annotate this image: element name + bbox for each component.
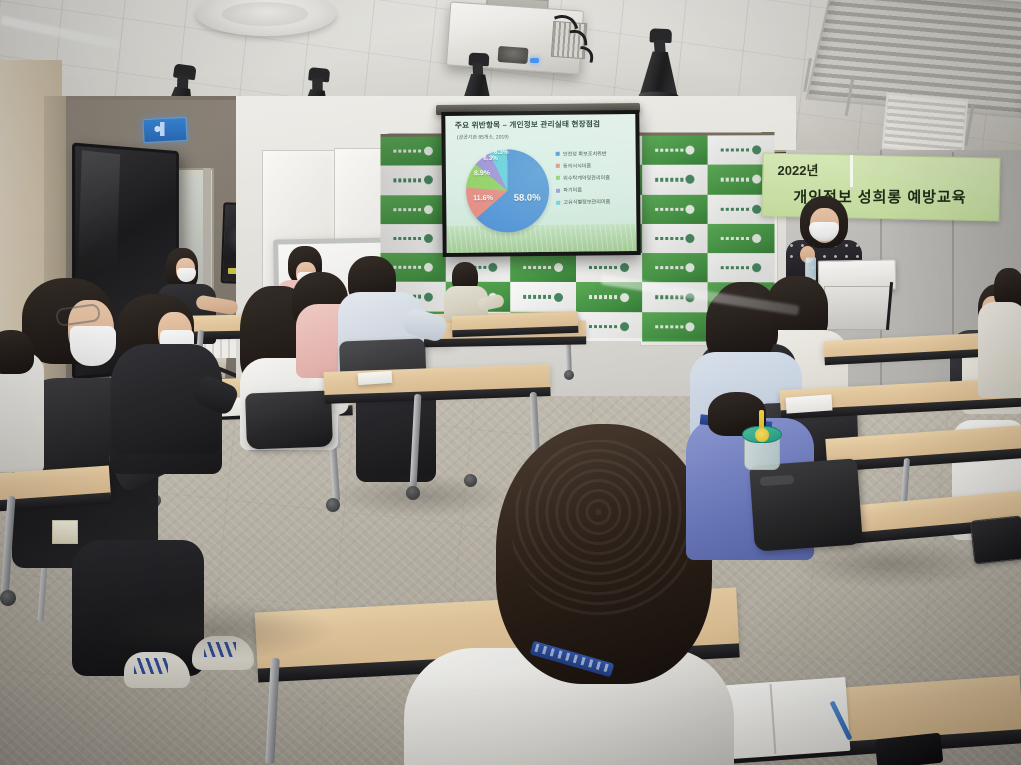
legend-label: 동의서식미흡	[563, 162, 591, 169]
open-notebook	[358, 371, 393, 385]
pie-slice-label: 6.3%	[494, 149, 509, 156]
training-desk	[452, 312, 578, 332]
stacking-chair[interactable]	[749, 458, 863, 551]
legend-swatch	[556, 164, 560, 168]
legend-swatch	[556, 188, 560, 192]
hair-texture	[512, 440, 692, 620]
exit-sign-glyph	[149, 122, 177, 136]
desk-caster	[0, 590, 16, 606]
legend-item: 파기미흡	[556, 186, 632, 194]
smartphone[interactable]	[875, 733, 944, 765]
legend-item: 동의서식미흡	[556, 162, 632, 170]
legend-label: 파기미흡	[563, 187, 582, 194]
legend-swatch	[556, 201, 560, 205]
projector-status-led	[530, 58, 539, 63]
tumbler-smiley-charm	[755, 428, 769, 442]
legend-label: 고유식별정보관리미흡	[563, 199, 610, 206]
smoke-detector-inner	[222, 2, 308, 26]
lecture-room-photo: 2022년 개인정보 성희롱 예방교육 주요 위반항목 – 개인정보 관리실태 …	[0, 0, 1021, 765]
pie-slice-label: 8.9%	[474, 170, 490, 177]
shoe-stripes	[134, 658, 168, 674]
legend-label: 안전성 확보조치위반	[563, 150, 607, 157]
legend-item: 고유식별정보관리미흡	[556, 198, 632, 206]
training-desk	[0, 466, 111, 505]
ceiling-vent-small	[882, 93, 969, 156]
pie-slice-label: 58.0%	[514, 193, 541, 204]
slide-title: 주요 위반항목 – 개인정보 관리실태 현장점검	[455, 118, 630, 131]
projection-screen: 주요 위반항목 – 개인정보 관리실태 현장점검 (공공기관 85개소, 201…	[441, 110, 641, 257]
projector-cables	[430, 10, 510, 80]
banner-title: 개인정보 성희롱 예방교육	[764, 183, 996, 209]
banner-year: 2022년	[770, 158, 826, 180]
green-tumbler-with-straw	[742, 420, 780, 468]
slide-subtitle: (공공기관 85개소, 2019)	[457, 134, 509, 142]
pie-chart: 58.0%11.6%8.9%6.3%6.3%	[457, 145, 564, 242]
legend-item: 위수탁계약및관리미흡	[556, 174, 632, 182]
attendee-hair	[0, 330, 34, 374]
legend-swatch	[556, 152, 560, 156]
open-notebook	[785, 394, 832, 413]
stacking-chair[interactable]	[245, 391, 333, 450]
chart-legend: 안전성 확보조치위반동의서식미흡위수탁계약및관리미흡파기미흡고유식별정보관리미흡	[556, 150, 633, 212]
presentation-slide: 주요 위반항목 – 개인정보 관리실태 현장점검 (공공기관 85개소, 201…	[445, 114, 636, 253]
legend-label: 위수탁계약및관리미흡	[563, 174, 610, 181]
desk-label-sticker	[52, 520, 78, 544]
attendee-face-mask	[70, 326, 116, 366]
podium	[824, 286, 890, 330]
pie-value-labels: 58.0%11.6%8.9%6.3%6.3%	[457, 145, 563, 146]
floor-shadow	[790, 540, 990, 588]
floor-shadow	[96, 600, 336, 660]
legend-item: 안전성 확보조치위반	[556, 150, 632, 158]
desk-caster	[564, 370, 574, 380]
pie-slice-label: 11.6%	[473, 193, 493, 202]
pie-disc	[466, 149, 550, 233]
attendee-body	[978, 302, 1021, 398]
legend-swatch	[556, 176, 560, 180]
floor-shadow	[330, 474, 510, 518]
